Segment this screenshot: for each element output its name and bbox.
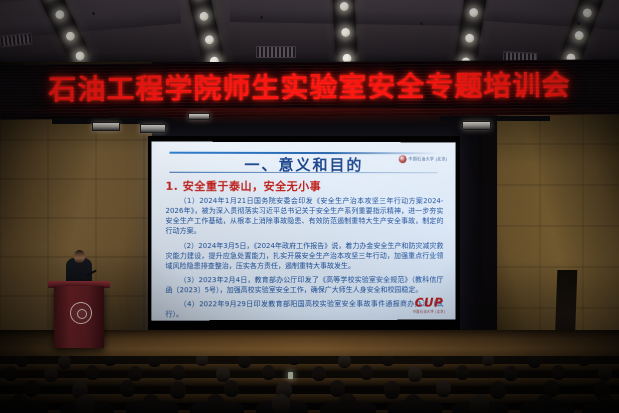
led-banner: 石油工程学院师生实验室安全专题培训会 xyxy=(0,59,619,119)
stage-light-fixture xyxy=(92,122,120,131)
attendee-head xyxy=(384,381,400,399)
auditorium-scene: 石油工程学院师生实验室安全专题培训会 一、意义和目的 中国石油大学 (北京) 1… xyxy=(0,0,619,413)
attendee-head xyxy=(262,365,275,380)
attendee-head xyxy=(382,356,394,366)
attendee-head xyxy=(598,366,612,381)
attendee-head xyxy=(528,356,541,368)
attendee-head xyxy=(338,356,351,368)
attendee-head xyxy=(436,380,451,397)
attendee-head xyxy=(482,356,494,366)
badge-mark-icon xyxy=(399,155,407,163)
slide-paragraph: （3）2023年2月4日，教育部办公厅印发了《高等学校实验室安全规范》（教科信厅… xyxy=(165,275,443,296)
cup-logo: CUP 中国石油大学 (北京) xyxy=(413,297,446,314)
ceiling-beam xyxy=(181,0,224,63)
slide-subtitle: 1. 安全重于泰山，安全无小事 xyxy=(165,178,321,194)
attendee-head xyxy=(4,366,17,381)
attendee-head xyxy=(170,381,186,399)
attendee-head xyxy=(312,366,326,381)
university-badge-icon: 中国石油大学 (北京) xyxy=(399,155,448,163)
attendee-head xyxy=(288,356,300,365)
attendee-head xyxy=(408,366,422,382)
attendee-head xyxy=(10,394,28,413)
slide-body: （1）2024年1月21日国务院安委会印发《安全生产治本攻坚三年行动方案2024… xyxy=(165,196,443,321)
podium xyxy=(54,286,104,348)
attendee-head xyxy=(196,356,208,366)
attendee-head xyxy=(16,356,28,367)
audience-area xyxy=(0,356,619,413)
badge-label: 中国石油大学 (北京) xyxy=(409,156,448,162)
attendee-head xyxy=(432,356,445,367)
attendee-head xyxy=(404,394,422,413)
presentation-slide: 一、意义和目的 中国石油大学 (北京) 1. 安全重于泰山，安全无小事 （1）2… xyxy=(151,142,455,321)
attendee-head xyxy=(24,380,39,397)
attendee-head xyxy=(104,356,116,366)
attendee-head xyxy=(148,356,161,367)
ceiling xyxy=(0,0,619,66)
cup-subtitle: 中国石油大学 (北京) xyxy=(413,309,446,314)
attendee-head xyxy=(206,394,225,413)
attendee-head xyxy=(172,365,185,380)
ceiling-beam xyxy=(331,0,358,59)
attendee-head xyxy=(142,394,160,413)
attendee-head xyxy=(224,380,239,397)
attendee-head xyxy=(552,365,565,380)
cup-wordmark: CUP xyxy=(413,297,446,309)
attendee-head xyxy=(504,366,518,381)
attendee-head xyxy=(360,365,373,380)
slide-paragraph: （4）2022年9月29日印发教育部阳国高校实验室安全事故事件通报商办办法（试行… xyxy=(165,299,443,320)
attendee-head xyxy=(272,394,290,413)
stage-light-fixture xyxy=(140,124,166,133)
attendee-head xyxy=(58,356,71,369)
phone-screen-glow xyxy=(288,372,293,379)
attendee-head xyxy=(536,394,554,413)
stage-light-fixture xyxy=(188,113,210,120)
ceiling-air-vent xyxy=(0,32,33,47)
ceiling-air-vent xyxy=(256,46,296,58)
attendee-head xyxy=(578,356,590,366)
attendee-head xyxy=(44,367,58,382)
university-crest-icon xyxy=(70,302,92,324)
attendee-head xyxy=(86,365,99,380)
slide-paragraph: （1）2024年1月21日国务院安委会印发《安全生产治本攻坚三年行动方案2024… xyxy=(165,196,443,237)
projection-screen: 一、意义和目的 中国石油大学 (北京) 1. 安全重于泰山，安全无小事 （1）2… xyxy=(148,136,460,332)
attendee-head xyxy=(128,366,142,381)
attendee-head xyxy=(120,380,135,397)
attendee-head xyxy=(470,394,489,413)
presenter-head xyxy=(74,250,85,263)
stage-light-fixture xyxy=(462,121,491,130)
attendee-head xyxy=(596,394,615,413)
attendee-head xyxy=(76,394,95,413)
attendee-head xyxy=(490,381,506,399)
led-banner-text: 石油工程学院师生实验室安全专题培训会 xyxy=(0,63,619,108)
attendee-head xyxy=(238,356,251,368)
slide-paragraph: （2）2024年3月5日，《2024年政府工作报告》说，着力办金安全生产和防灾减… xyxy=(165,241,443,272)
attendee-head xyxy=(338,393,357,413)
attendee-head xyxy=(456,365,469,380)
lighting-rig-bar xyxy=(440,116,550,121)
